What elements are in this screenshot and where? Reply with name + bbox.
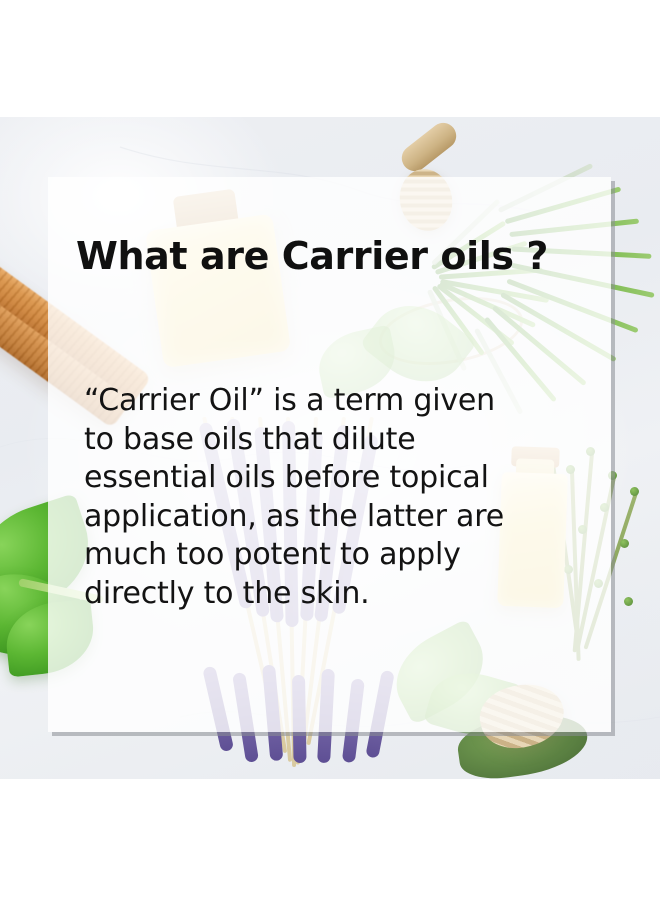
body-line: essential oils before topical xyxy=(84,459,594,498)
body-line: much too potent to apply xyxy=(84,536,594,575)
image-canvas: What are Carrier oils ? “Carrier Oil” is… xyxy=(0,0,660,900)
body-line: “Carrier Oil” is a term given xyxy=(84,382,594,421)
body-line: directly to the skin. xyxy=(84,575,594,614)
body-paragraph: “Carrier Oil” is a term given to base oi… xyxy=(84,382,594,613)
body-line: to base oils that dilute xyxy=(84,421,594,460)
content-card: What are Carrier oils ? “Carrier Oil” is… xyxy=(48,177,611,732)
page-title: What are Carrier oils ? xyxy=(76,237,596,277)
body-line: application, as the latter are xyxy=(84,498,594,537)
